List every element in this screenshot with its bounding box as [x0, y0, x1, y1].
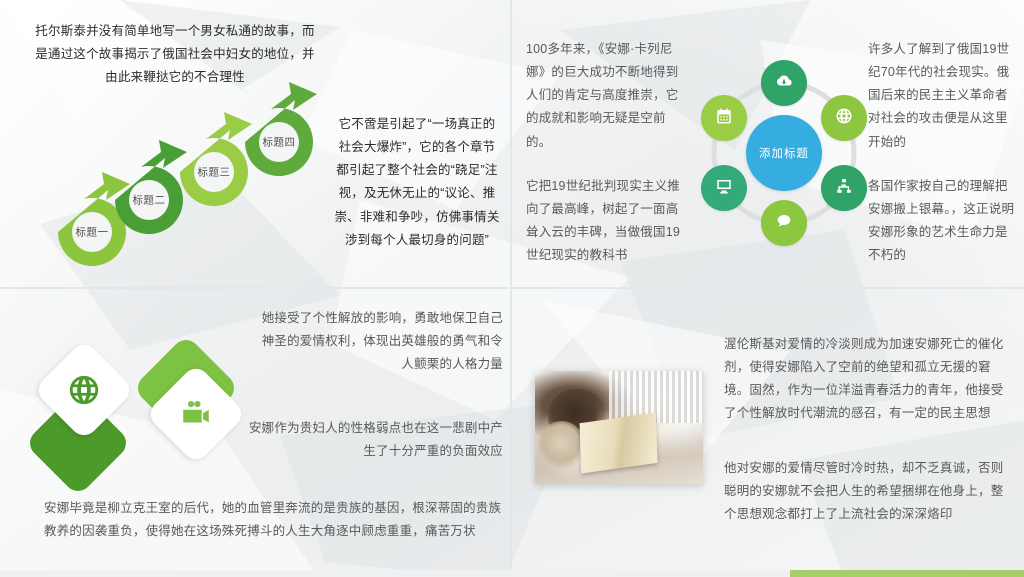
tr-text-left-bottom: 它把19世纪批判现实主义推向了最高峰，树起了一面高耸入云的丰碑，当做俄国19世纪… — [526, 175, 688, 268]
node-monitor[interactable] — [701, 165, 747, 211]
node-chat-bubble[interactable] — [761, 200, 807, 246]
diagram-center-node[interactable]: 添加标题 — [746, 115, 822, 191]
bottom-accent-bar — [790, 570, 1024, 577]
bl-text-3: 安娜毕竟是柳立克王室的后代，她的血管里奔流的是贵族的基因，根深蒂固的贵族教养的因… — [44, 497, 504, 543]
monitor-icon — [715, 177, 733, 200]
globe-icon — [67, 373, 101, 407]
br-text-2: 他对安娜的爱情尽管时冷时热，却不乏真诚，否则聪明的安娜就不会把人生的希望捆绑在他… — [724, 457, 1014, 526]
chat-bubble-icon — [775, 212, 793, 235]
diagram-center-label: 添加标题 — [759, 145, 809, 161]
woman-reading-book-photo — [535, 371, 703, 484]
spiral-step-4[interactable] — [245, 82, 317, 176]
spiral-step-2-label: 标题二 — [133, 193, 166, 208]
spiral-step-1-label: 标题一 — [76, 225, 109, 240]
tr-text-right-bottom: 各国作家按自己的理解把安娜搬上银幕。，这正说明安娜形象的艺术生命力是不朽的 — [868, 175, 1016, 268]
node-sitemap[interactable] — [821, 165, 867, 211]
sitemap-icon — [835, 177, 853, 200]
spiral-arrow-svg — [24, 80, 354, 270]
br-text-1: 渥伦斯基对爱情的冷淡则成为加速安娜死亡的催化剂，使得安娜陷入了空前的绝望和孤立无… — [724, 333, 1014, 426]
bottom-strip — [0, 570, 790, 577]
spiral-step-4-label: 标题四 — [263, 135, 296, 150]
video-camera-icon — [179, 397, 213, 431]
quadrant-bottom-right: 渥伦斯基对爱情的冷淡则成为加速安娜死亡的催化剂，使得安娜陷入了空前的绝望和孤立无… — [512, 289, 1024, 577]
tl-side-text: 它不啻是引起了“一场真正的社会大爆炸”，它的各个章节都引起了整个社会的“跷足”注… — [333, 113, 501, 252]
node-calendar[interactable] — [701, 95, 747, 141]
spiral-step-2[interactable] — [115, 140, 187, 234]
globe-icon — [835, 107, 853, 130]
quadrant-top-right: 100多年来，《安娜·卡列尼娜》的巨大成功不断地得到人们的肯定与高度推崇，它的成… — [512, 0, 1024, 287]
tl-heading-text: 托尔斯泰并没有简单地写一个男女私通的故事，而是通过这个故事揭示了俄国社会中妇女的… — [30, 20, 320, 89]
quadrant-top-left: 托尔斯泰并没有简单地写一个男女私通的故事，而是通过这个故事揭示了俄国社会中妇女的… — [0, 0, 510, 287]
spiral-step-3[interactable] — [180, 112, 252, 206]
node-globe[interactable] — [821, 95, 867, 141]
calendar-icon — [715, 107, 733, 130]
quadrant-bottom-left: 她接受了个性解放的影响，勇敢地保卫自己神圣的爱情权利，体现出英雄般的勇气和令人颤… — [0, 289, 510, 577]
bl-text-1: 她接受了个性解放的影响，勇敢地保卫自己神圣的爱情权利，体现出英雄般的勇气和令人颤… — [260, 307, 503, 376]
spiral-arrow-chart: 标题一 标题二 标题三 标题四 — [24, 80, 354, 270]
tr-text-left-top: 100多年来，《安娜·卡列尼娜》的巨大成功不断地得到人们的肯定与高度推崇，它的成… — [526, 38, 688, 154]
spiral-step-3-label: 标题三 — [198, 165, 231, 180]
slide-canvas: 托尔斯泰并没有简单地写一个男女私通的故事，而是通过这个故事揭示了俄国社会中妇女的… — [0, 0, 1024, 577]
tr-text-right-top: 许多人了解到了俄国19世纪70年代的社会现实。俄国后来的民主主义革命者对社会的攻… — [868, 38, 1016, 154]
bl-text-2: 安娜作为贵妇人的性格弱点也在这一悲剧中产生了十分严重的负面效应 — [240, 417, 503, 463]
cloud-download-icon — [775, 72, 793, 95]
spiral-step-1[interactable] — [58, 172, 130, 266]
hexagon-circle-diagram: 添加标题 — [689, 55, 879, 250]
node-cloud-download[interactable] — [761, 60, 807, 106]
